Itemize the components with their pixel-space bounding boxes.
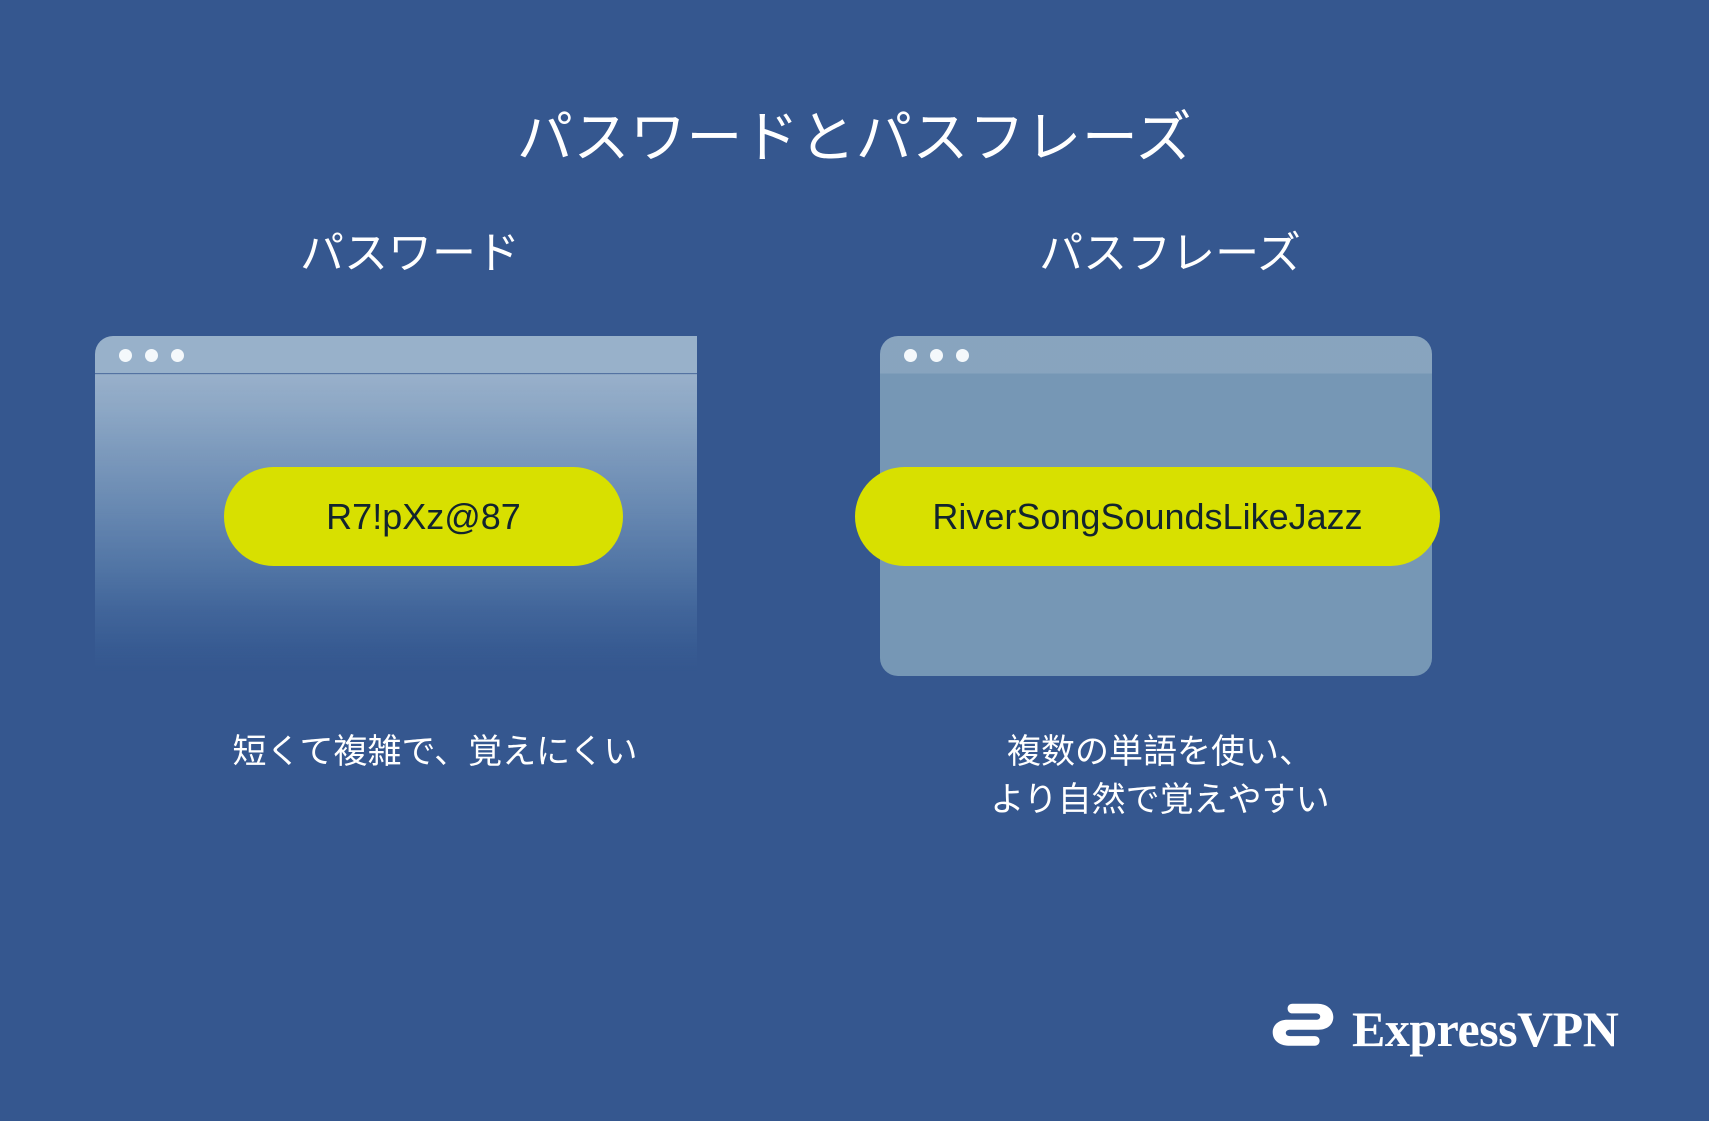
window-titlebar-password xyxy=(95,336,697,374)
caption-password: 短くて複雑で、覚えにくい xyxy=(95,728,775,776)
expressvpn-logo: ExpressVPN xyxy=(1272,1003,1618,1055)
expressvpn-wordmark: ExpressVPN xyxy=(1352,1004,1618,1054)
caption-line: より自然で覚えやすい xyxy=(860,776,1460,824)
infographic-canvas: パスワードとパスフレーズ パスワード R7!pXz@87 短くて複雑で、覚えにく… xyxy=(0,0,1709,1121)
caption-passphrase: 複数の単語を使い、 より自然で覚えやすい xyxy=(860,728,1460,825)
caption-line: 短くて複雑で、覚えにくい xyxy=(95,728,775,776)
password-value-pill[interactable]: R7!pXz@87 xyxy=(224,467,623,566)
column-heading-password: パスワード xyxy=(60,228,760,281)
window-dot-icon xyxy=(930,349,943,362)
window-dot-icon xyxy=(171,349,184,362)
window-dot-icon xyxy=(145,349,158,362)
caption-line: 複数の単語を使い、 xyxy=(860,728,1460,776)
window-dot-icon xyxy=(119,349,132,362)
window-dot-icon xyxy=(904,349,917,362)
passphrase-value-pill[interactable]: RiverSongSoundsLikeJazz xyxy=(855,467,1440,566)
column-heading-passphrase: パスフレーズ xyxy=(800,228,1540,281)
expressvpn-e-icon xyxy=(1272,1003,1334,1055)
window-dot-icon xyxy=(956,349,969,362)
window-titlebar-passphrase xyxy=(880,336,1432,374)
